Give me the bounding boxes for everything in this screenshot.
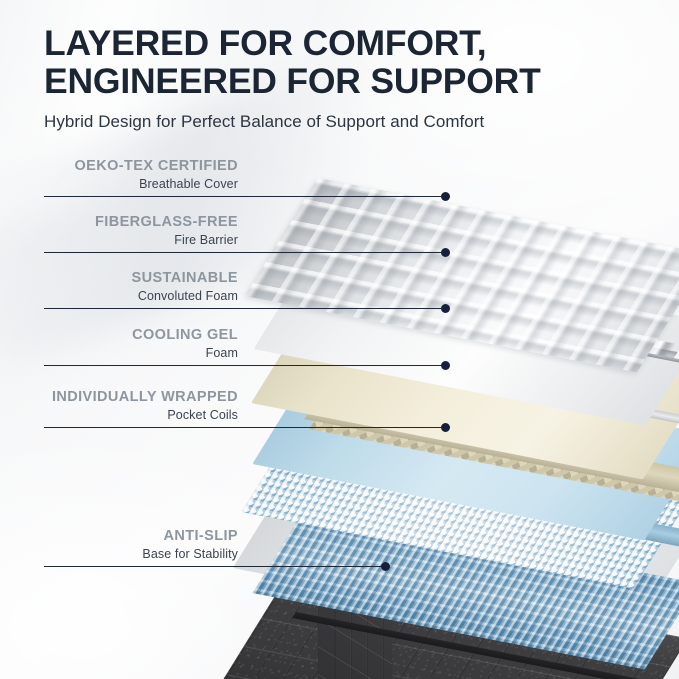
leader-line: [44, 365, 446, 366]
callout-subtitle: Convoluted Foam: [38, 288, 238, 304]
leader-dot: [441, 361, 450, 370]
callout-label-group: INDIVIDUALLY WRAPPED Pocket Coils: [38, 388, 238, 423]
leader-dot: [441, 304, 450, 313]
callout-label-group: OEKO-TEX CERTIFIED Breathable Cover: [38, 157, 238, 192]
page-header: LAYERED FOR COMFORT, ENGINEERED FOR SUPP…: [44, 24, 644, 132]
callout-label-group: FIBERGLASS-FREE Fire Barrier: [38, 213, 238, 248]
leader-line: [44, 566, 386, 567]
leader-line: [44, 252, 446, 253]
leader-line: [44, 308, 446, 309]
page-title-line-2: ENGINEERED FOR SUPPORT: [44, 62, 644, 100]
callout-label-group: SUSTAINABLE Convoluted Foam: [38, 269, 238, 304]
callout-title: ANTI-SLIP: [38, 527, 238, 545]
leader-line: [44, 427, 446, 428]
infographic-canvas: LAYERED FOR COMFORT, ENGINEERED FOR SUPP…: [0, 0, 679, 679]
page-title-line-1: LAYERED FOR COMFORT,: [44, 24, 644, 62]
leader-dot: [381, 562, 390, 571]
leader-dot: [441, 248, 450, 257]
callout-subtitle: Fire Barrier: [38, 232, 238, 248]
callout-title: OEKO-TEX CERTIFIED: [38, 157, 238, 175]
callout-title: INDIVIDUALLY WRAPPED: [38, 388, 238, 406]
callout-subtitle: Base for Stability: [38, 546, 238, 562]
callout-subtitle: Foam: [38, 345, 238, 361]
callout-title: SUSTAINABLE: [38, 269, 238, 287]
page-subtitle: Hybrid Design for Perfect Balance of Sup…: [44, 111, 644, 132]
leader-line: [44, 196, 446, 197]
callout-title: FIBERGLASS-FREE: [38, 213, 238, 231]
callout-subtitle: Pocket Coils: [38, 407, 238, 423]
leader-dot: [441, 192, 450, 201]
callout-label-group: COOLING GEL Foam: [38, 326, 238, 361]
callout-title: COOLING GEL: [38, 326, 238, 344]
leader-dot: [441, 423, 450, 432]
callout-subtitle: Breathable Cover: [38, 176, 238, 192]
callout-label-group: ANTI-SLIP Base for Stability: [38, 527, 238, 562]
